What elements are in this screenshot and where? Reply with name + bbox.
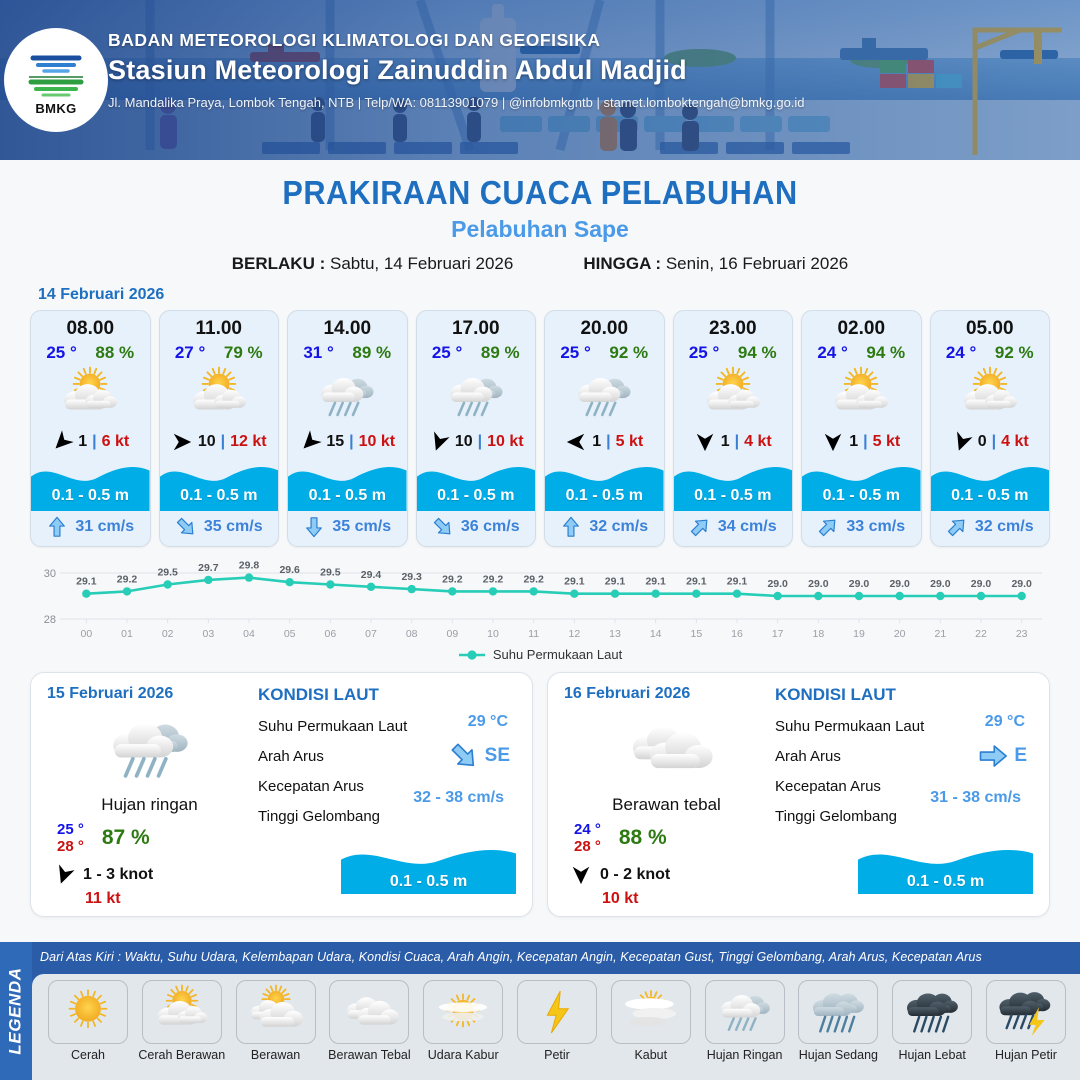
legend-item-icon — [986, 980, 1066, 1044]
hingga-label: HINGGA : — [583, 254, 661, 273]
svg-text:29.3: 29.3 — [401, 571, 422, 583]
card-humidity: 92 % — [995, 343, 1034, 363]
legend-item-label: Hujan Petir — [980, 1048, 1072, 1062]
svg-text:09: 09 — [446, 628, 458, 640]
card-wave-height: 0.1 - 0.5 m — [802, 487, 921, 505]
card-current: 35 cm/s — [288, 511, 407, 546]
panel-condition: Berawan tebal — [564, 795, 769, 815]
legend-item-icon — [517, 980, 597, 1044]
card-current: 32 cm/s — [545, 511, 664, 546]
panel-current-dir-value: E — [1014, 745, 1027, 767]
svg-text:05: 05 — [284, 628, 296, 640]
legend-item-icon — [329, 980, 409, 1044]
card-wave-block: 0.1 - 0.5 m — [160, 459, 279, 511]
card-time: 05.00 — [931, 311, 1050, 342]
daily-panel: 16 Februari 2026 Berawan tebal 24 ° — [547, 672, 1050, 917]
card-gust-speed: 4 kt — [744, 433, 772, 451]
panel-temp-min: 24 ° — [574, 821, 601, 838]
card-wind-degree: 1 — [721, 433, 730, 451]
svg-text:29.0: 29.0 — [971, 578, 992, 590]
card-temperature: 31 ° — [303, 343, 333, 363]
card-wind-separator: | — [221, 433, 225, 451]
hourly-card: 11.00 27 ° 79 % 10 | — [159, 310, 280, 547]
svg-text:12: 12 — [568, 628, 580, 640]
panel-current-dir-value: SE — [485, 745, 510, 767]
card-wind: 1 | 6 kt — [31, 427, 150, 459]
card-wave-block: 0.1 - 0.5 m — [931, 459, 1050, 511]
chart-legend-label: Suhu Permukaan Laut — [493, 647, 622, 662]
card-wave-height: 0.1 - 0.5 m — [674, 487, 793, 505]
svg-text:29.0: 29.0 — [808, 578, 829, 590]
card-wind-separator: | — [863, 433, 867, 451]
legend-section: LEGENDA Dari Atas Kiri : Waktu, Suhu Uda… — [0, 942, 1080, 1080]
svg-text:11: 11 — [528, 628, 539, 640]
card-temperature: 25 ° — [46, 343, 76, 363]
card-current-speed: 33 cm/s — [846, 518, 905, 536]
legend-item-icon — [798, 980, 878, 1044]
svg-text:18: 18 — [812, 628, 824, 640]
card-wind-degree: 1 — [592, 433, 601, 451]
card-wave-height: 0.1 - 0.5 m — [545, 487, 664, 505]
svg-text:29.1: 29.1 — [76, 576, 97, 588]
contact-line: Jl. Mandalika Praya, Lombok Tengah, NTB … — [108, 95, 805, 110]
card-current: 33 cm/s — [802, 511, 921, 546]
svg-text:06: 06 — [324, 628, 336, 640]
card-current-speed: 35 cm/s — [204, 518, 263, 536]
panel-wave-value: 0.1 - 0.5 m — [341, 873, 516, 891]
svg-text:13: 13 — [609, 628, 621, 640]
card-time: 23.00 — [674, 311, 793, 342]
legend-item-label: Cerah — [42, 1048, 134, 1062]
wind-direction-icon — [295, 426, 326, 457]
bmkg-logo-text: BMKG — [35, 101, 76, 116]
svg-text:29.0: 29.0 — [930, 578, 951, 590]
current-direction-icon — [46, 516, 68, 538]
svg-text:02: 02 — [162, 628, 174, 640]
legend-item-label: Cerah Berawan — [136, 1048, 228, 1062]
svg-text:20: 20 — [894, 628, 906, 640]
panel-temp-max: 28 ° — [57, 838, 84, 855]
station-name: Stasiun Meteorologi Zainuddin Abdul Madj… — [108, 55, 805, 86]
current-direction-icon — [560, 516, 582, 538]
card-current: 35 cm/s — [160, 511, 279, 546]
panel-wave-block: 0.1 - 0.5 m — [341, 842, 516, 898]
card-wave-height: 0.1 - 0.5 m — [931, 487, 1050, 505]
port-name: Pelabuhan Sape — [0, 216, 1080, 243]
panel-current-dir: SE — [449, 741, 510, 771]
svg-text:29.2: 29.2 — [483, 573, 504, 585]
legend-item-label: Petir — [511, 1048, 603, 1062]
legend-note: Dari Atas Kiri : Waktu, Suhu Udara, Kele… — [40, 950, 1074, 964]
card-weather-icon — [31, 365, 150, 427]
panel-wave-label: Tinggi Gelombang — [775, 808, 1033, 825]
svg-text:29.2: 29.2 — [523, 573, 544, 585]
panel-gust: 10 kt — [602, 890, 769, 908]
panel-left: 16 Februari 2026 Berawan tebal 24 ° — [564, 685, 769, 902]
wind-direction-icon — [47, 426, 78, 457]
panel-temp-hum: 24 ° 28 ° 88 % — [564, 821, 769, 856]
card-humidity: 88 % — [95, 343, 134, 363]
svg-text:29.6: 29.6 — [279, 564, 300, 576]
card-gust-speed: 10 kt — [487, 433, 523, 451]
panel-condition: Hujan ringan — [47, 795, 252, 815]
legend-items: Cerah Cerah Berawan — [32, 974, 1080, 1080]
card-time: 11.00 — [160, 311, 279, 342]
svg-text:23: 23 — [1016, 628, 1028, 640]
panel-current-dir: E — [978, 741, 1027, 771]
panel-temp-max: 28 ° — [574, 838, 601, 855]
current-direction-icon — [427, 511, 458, 542]
svg-text:30: 30 — [44, 568, 56, 580]
page-header: BMKG BADAN METEOROLOGI KLIMATOLOGI DAN G… — [0, 0, 1080, 160]
card-values: 31 ° 89 % — [288, 342, 407, 365]
legend-item: Hujan Lebat — [886, 980, 978, 1062]
hourly-forecast-cards: 08.00 25 ° 88 % 1 | 6 — [0, 310, 1080, 547]
wind-direction-icon — [822, 431, 844, 453]
card-gust-speed: 6 kt — [102, 433, 130, 451]
panel-temp-hum: 25 ° 28 ° 87 % — [47, 821, 252, 856]
legend-item-label: Hujan Ringan — [699, 1048, 791, 1062]
hingga-group: HINGGA : Senin, 16 Februari 2026 — [583, 254, 848, 274]
card-weather-icon — [160, 365, 279, 427]
svg-text:29.0: 29.0 — [849, 578, 870, 590]
svg-text:17: 17 — [772, 628, 784, 640]
panel-date: 15 Februari 2026 — [47, 685, 252, 703]
legend-item: Cerah — [42, 980, 134, 1062]
panel-wind-range: 0 - 2 knot — [600, 866, 670, 884]
card-current-speed: 32 cm/s — [975, 518, 1034, 536]
card-wind: 1 | 4 kt — [674, 427, 793, 459]
card-wind-degree: 10 — [198, 433, 216, 451]
svg-text:29.2: 29.2 — [117, 573, 138, 585]
card-values: 25 ° 92 % — [545, 342, 664, 365]
card-wave-height: 0.1 - 0.5 m — [288, 487, 407, 505]
svg-text:29.8: 29.8 — [239, 560, 260, 572]
current-direction-icon — [813, 511, 844, 542]
bmkg-logo: BMKG — [4, 28, 108, 132]
panel-humidity: 88 % — [619, 826, 667, 850]
card-wind-degree: 15 — [326, 433, 344, 451]
card-time: 14.00 — [288, 311, 407, 342]
hingga-value: Senin, 16 Februari 2026 — [666, 254, 848, 273]
wind-direction-icon — [948, 428, 976, 456]
panel-wave-block: 0.1 - 0.5 m — [858, 842, 1033, 898]
panel-date: 16 Februari 2026 — [564, 685, 769, 703]
panel-sst-value: 29 °C — [468, 713, 508, 731]
berlaku-label: BERLAKU : — [232, 254, 326, 273]
bmkg-logo-icon — [25, 44, 87, 100]
svg-text:29.5: 29.5 — [320, 567, 341, 579]
hourly-card: 02.00 24 ° 94 % 1 | 5 — [801, 310, 922, 547]
card-time: 20.00 — [545, 311, 664, 342]
svg-text:29.0: 29.0 — [767, 578, 788, 590]
card-wave-block: 0.1 - 0.5 m — [31, 459, 150, 511]
card-wave-height: 0.1 - 0.5 m — [31, 487, 150, 505]
card-wave-height: 0.1 - 0.5 m — [160, 487, 279, 505]
legend-item: Petir — [511, 980, 603, 1062]
card-time: 02.00 — [802, 311, 921, 342]
svg-text:29.1: 29.1 — [564, 576, 585, 588]
card-wind: 1 | 5 kt — [802, 427, 921, 459]
legend-item: Berawan — [230, 980, 322, 1062]
panel-sea-title: KONDISI LAUT — [775, 685, 1033, 705]
panel-wind: 1 - 3 knot — [47, 864, 252, 886]
card-wind-degree: 10 — [455, 433, 473, 451]
card-wind-separator: | — [992, 433, 996, 451]
svg-text:29.1: 29.1 — [686, 576, 707, 588]
svg-text:03: 03 — [202, 628, 214, 640]
svg-text:29.0: 29.0 — [1011, 578, 1032, 590]
legend-item-label: Kabut — [605, 1048, 697, 1062]
card-wave-block: 0.1 - 0.5 m — [674, 459, 793, 511]
card-gust-speed: 5 kt — [873, 433, 901, 451]
svg-text:16: 16 — [731, 628, 743, 640]
legend-item-label: Hujan Sedang — [792, 1048, 884, 1062]
legend-side-bar: LEGENDA — [0, 942, 32, 1080]
svg-text:07: 07 — [365, 628, 377, 640]
wind-direction-icon — [171, 431, 193, 453]
legend-item-icon — [48, 980, 128, 1044]
card-wave-block: 0.1 - 0.5 m — [417, 459, 536, 511]
current-direction-icon — [442, 735, 484, 777]
panel-weather-icon — [47, 705, 252, 793]
card-humidity: 89 % — [481, 343, 520, 363]
panel-sea-title: KONDISI LAUT — [258, 685, 516, 705]
panel-current-speed-value: 31 - 38 cm/s — [930, 789, 1021, 807]
card-wind: 10 | 10 kt — [417, 427, 536, 459]
svg-text:29.4: 29.4 — [361, 569, 382, 581]
legend-side-label: LEGENDA — [6, 967, 26, 1054]
card-current-speed: 36 cm/s — [461, 518, 520, 536]
svg-text:29.0: 29.0 — [889, 578, 910, 590]
legend-item-icon — [236, 980, 316, 1044]
panel-right: KONDISI LAUT Suhu Permukaan Laut 29 °C A… — [769, 685, 1033, 902]
svg-text:10: 10 — [487, 628, 499, 640]
card-values: 27 ° 79 % — [160, 342, 279, 365]
card-wind-degree: 0 — [978, 433, 987, 451]
legend-item-label: Udara Kabur — [417, 1048, 509, 1062]
panel-humidity: 87 % — [102, 826, 150, 850]
card-values: 24 ° 94 % — [802, 342, 921, 365]
current-direction-icon — [684, 511, 715, 542]
legend-item-icon — [611, 980, 691, 1044]
card-current-speed: 34 cm/s — [718, 518, 777, 536]
panel-sst-value: 29 °C — [985, 713, 1025, 731]
card-weather-icon — [417, 365, 536, 427]
panel-gust: 11 kt — [85, 890, 252, 908]
card-weather-icon — [802, 365, 921, 427]
card-time: 08.00 — [31, 311, 150, 342]
hourly-card: 20.00 25 ° 92 % 1 | 5 — [544, 310, 665, 547]
berlaku-group: BERLAKU : Sabtu, 14 Februari 2026 — [232, 254, 514, 274]
hourly-card: 08.00 25 ° 88 % 1 | 6 — [30, 310, 151, 547]
card-gust-speed: 12 kt — [230, 433, 266, 451]
sst-chart: 2830000102030405060708091011121314151617… — [26, 557, 1054, 645]
card-temperature: 25 ° — [432, 343, 462, 363]
legend-item-label: Berawan — [230, 1048, 322, 1062]
legend-item-icon — [423, 980, 503, 1044]
svg-text:29.7: 29.7 — [198, 562, 219, 574]
chart-legend-marker-icon — [458, 649, 486, 661]
legend-item-icon — [142, 980, 222, 1044]
card-gust-speed: 10 kt — [359, 433, 395, 451]
card-current: 34 cm/s — [674, 511, 793, 546]
panel-current-speed-value: 32 - 38 cm/s — [413, 789, 504, 807]
panel-weather-icon — [564, 705, 769, 793]
current-direction-icon — [978, 741, 1008, 771]
panel-temps: 25 ° 28 ° — [57, 821, 84, 856]
card-humidity: 79 % — [224, 343, 263, 363]
card-weather-icon — [674, 365, 793, 427]
svg-text:14: 14 — [650, 628, 662, 640]
current-direction-icon — [303, 516, 325, 538]
page-title: PRAKIRAAN CUACA PELABUHAN — [38, 174, 1042, 212]
legend-item: Hujan Petir — [980, 980, 1072, 1062]
svg-text:01: 01 — [121, 628, 133, 640]
card-humidity: 94 % — [738, 343, 777, 363]
legend-item-label: Berawan Tebal — [323, 1048, 415, 1062]
daily-panel: 15 Februari 2026 Hujan ringan 25 ° — [30, 672, 533, 917]
card-current: 31 cm/s — [31, 511, 150, 546]
wind-direction-icon — [565, 431, 587, 453]
card-weather-icon — [545, 365, 664, 427]
panel-wind-range: 1 - 3 knot — [83, 866, 153, 884]
current-direction-icon — [941, 511, 972, 542]
legend-item-icon — [892, 980, 972, 1044]
wind-direction-icon — [425, 428, 453, 456]
card-gust-speed: 4 kt — [1001, 433, 1029, 451]
legend-item: Kabut — [605, 980, 697, 1062]
svg-text:21: 21 — [934, 628, 946, 640]
card-humidity: 89 % — [352, 343, 391, 363]
card-values: 25 ° 94 % — [674, 342, 793, 365]
card-current-speed: 31 cm/s — [75, 518, 134, 536]
svg-text:22: 22 — [975, 628, 987, 640]
hourly-day-label: 14 Februari 2026 — [38, 286, 1080, 304]
card-weather-icon — [931, 365, 1050, 427]
header-text-block: BADAN METEOROLOGI KLIMATOLOGI DAN GEOFIS… — [108, 30, 805, 110]
panel-wave-label: Tinggi Gelombang — [258, 808, 516, 825]
svg-text:04: 04 — [243, 628, 255, 640]
card-gust-speed: 5 kt — [616, 433, 644, 451]
svg-text:29.5: 29.5 — [157, 567, 178, 579]
panel-left: 15 Februari 2026 Hujan ringan 25 ° — [47, 685, 252, 902]
card-temperature: 24 ° — [817, 343, 847, 363]
card-wind-separator: | — [349, 433, 353, 451]
card-values: 25 ° 89 % — [417, 342, 536, 365]
wind-direction-icon — [694, 431, 716, 453]
card-wave-block: 0.1 - 0.5 m — [802, 459, 921, 511]
card-humidity: 94 % — [866, 343, 905, 363]
card-wind-separator: | — [92, 433, 96, 451]
panel-right: KONDISI LAUT Suhu Permukaan Laut 29 °C A… — [252, 685, 516, 902]
card-wind: 10 | 12 kt — [160, 427, 279, 459]
card-temperature: 25 ° — [560, 343, 590, 363]
legend-item: Cerah Berawan — [136, 980, 228, 1062]
legend-item: Hujan Ringan — [699, 980, 791, 1062]
card-wind: 15 | 10 kt — [288, 427, 407, 459]
svg-text:29.1: 29.1 — [727, 576, 748, 588]
card-wind: 0 | 4 kt — [931, 427, 1050, 459]
panel-wave-value: 0.1 - 0.5 m — [858, 873, 1033, 891]
validity-row: BERLAKU : Sabtu, 14 Februari 2026 HINGGA… — [0, 254, 1080, 274]
hourly-card: 05.00 24 ° 92 % 0 | 4 — [930, 310, 1051, 547]
svg-text:29.1: 29.1 — [645, 576, 666, 588]
svg-text:29.2: 29.2 — [442, 573, 463, 585]
svg-text:08: 08 — [406, 628, 418, 640]
wind-direction-icon — [570, 864, 592, 886]
card-values: 25 ° 88 % — [31, 342, 150, 365]
card-wave-block: 0.1 - 0.5 m — [545, 459, 664, 511]
chart-legend: Suhu Permukaan Laut — [0, 647, 1080, 662]
wind-direction-icon — [50, 860, 78, 888]
card-humidity: 92 % — [609, 343, 648, 363]
card-time: 17.00 — [417, 311, 536, 342]
card-current-speed: 35 cm/s — [332, 518, 391, 536]
daily-forecast-panels: 15 Februari 2026 Hujan ringan 25 ° — [0, 662, 1080, 917]
card-wind-separator: | — [606, 433, 610, 451]
page-title-block: PRAKIRAAN CUACA PELABUHAN Pelabuhan Sape… — [0, 160, 1080, 274]
card-weather-icon — [288, 365, 407, 427]
card-temperature: 24 ° — [946, 343, 976, 363]
hourly-card: 14.00 31 ° 89 % 15 | — [287, 310, 408, 547]
legend-item-label: Hujan Lebat — [886, 1048, 978, 1062]
svg-text:28: 28 — [44, 614, 56, 626]
card-wave-height: 0.1 - 0.5 m — [417, 487, 536, 505]
svg-text:29.1: 29.1 — [605, 576, 626, 588]
berlaku-value: Sabtu, 14 Februari 2026 — [330, 254, 513, 273]
legend-item: Udara Kabur — [417, 980, 509, 1062]
legend-item: Berawan Tebal — [323, 980, 415, 1062]
card-wave-block: 0.1 - 0.5 m — [288, 459, 407, 511]
panel-temps: 24 ° 28 ° — [574, 821, 601, 856]
svg-text:00: 00 — [80, 628, 92, 640]
card-wind-separator: | — [478, 433, 482, 451]
legend-item: Hujan Sedang — [792, 980, 884, 1062]
card-wind: 1 | 5 kt — [545, 427, 664, 459]
org-name: BADAN METEOROLOGI KLIMATOLOGI DAN GEOFIS… — [108, 30, 805, 51]
card-temperature: 27 ° — [175, 343, 205, 363]
card-wind-degree: 1 — [849, 433, 858, 451]
panel-temp-min: 25 ° — [57, 821, 84, 838]
card-values: 24 ° 92 % — [931, 342, 1050, 365]
card-current: 36 cm/s — [417, 511, 536, 546]
svg-text:15: 15 — [690, 628, 702, 640]
card-wind-separator: | — [735, 433, 739, 451]
card-wind-degree: 1 — [78, 433, 87, 451]
panel-wind: 0 - 2 knot — [564, 864, 769, 886]
svg-text:19: 19 — [853, 628, 865, 640]
legend-item-icon — [705, 980, 785, 1044]
card-temperature: 25 ° — [689, 343, 719, 363]
card-current: 32 cm/s — [931, 511, 1050, 546]
card-current-speed: 32 cm/s — [589, 518, 648, 536]
hourly-card: 17.00 25 ° 89 % 10 | — [416, 310, 537, 547]
hourly-card: 23.00 25 ° 94 % 1 | 4 — [673, 310, 794, 547]
current-direction-icon — [170, 511, 201, 542]
sst-chart-svg: 2830000102030405060708091011121314151617… — [26, 557, 1054, 645]
